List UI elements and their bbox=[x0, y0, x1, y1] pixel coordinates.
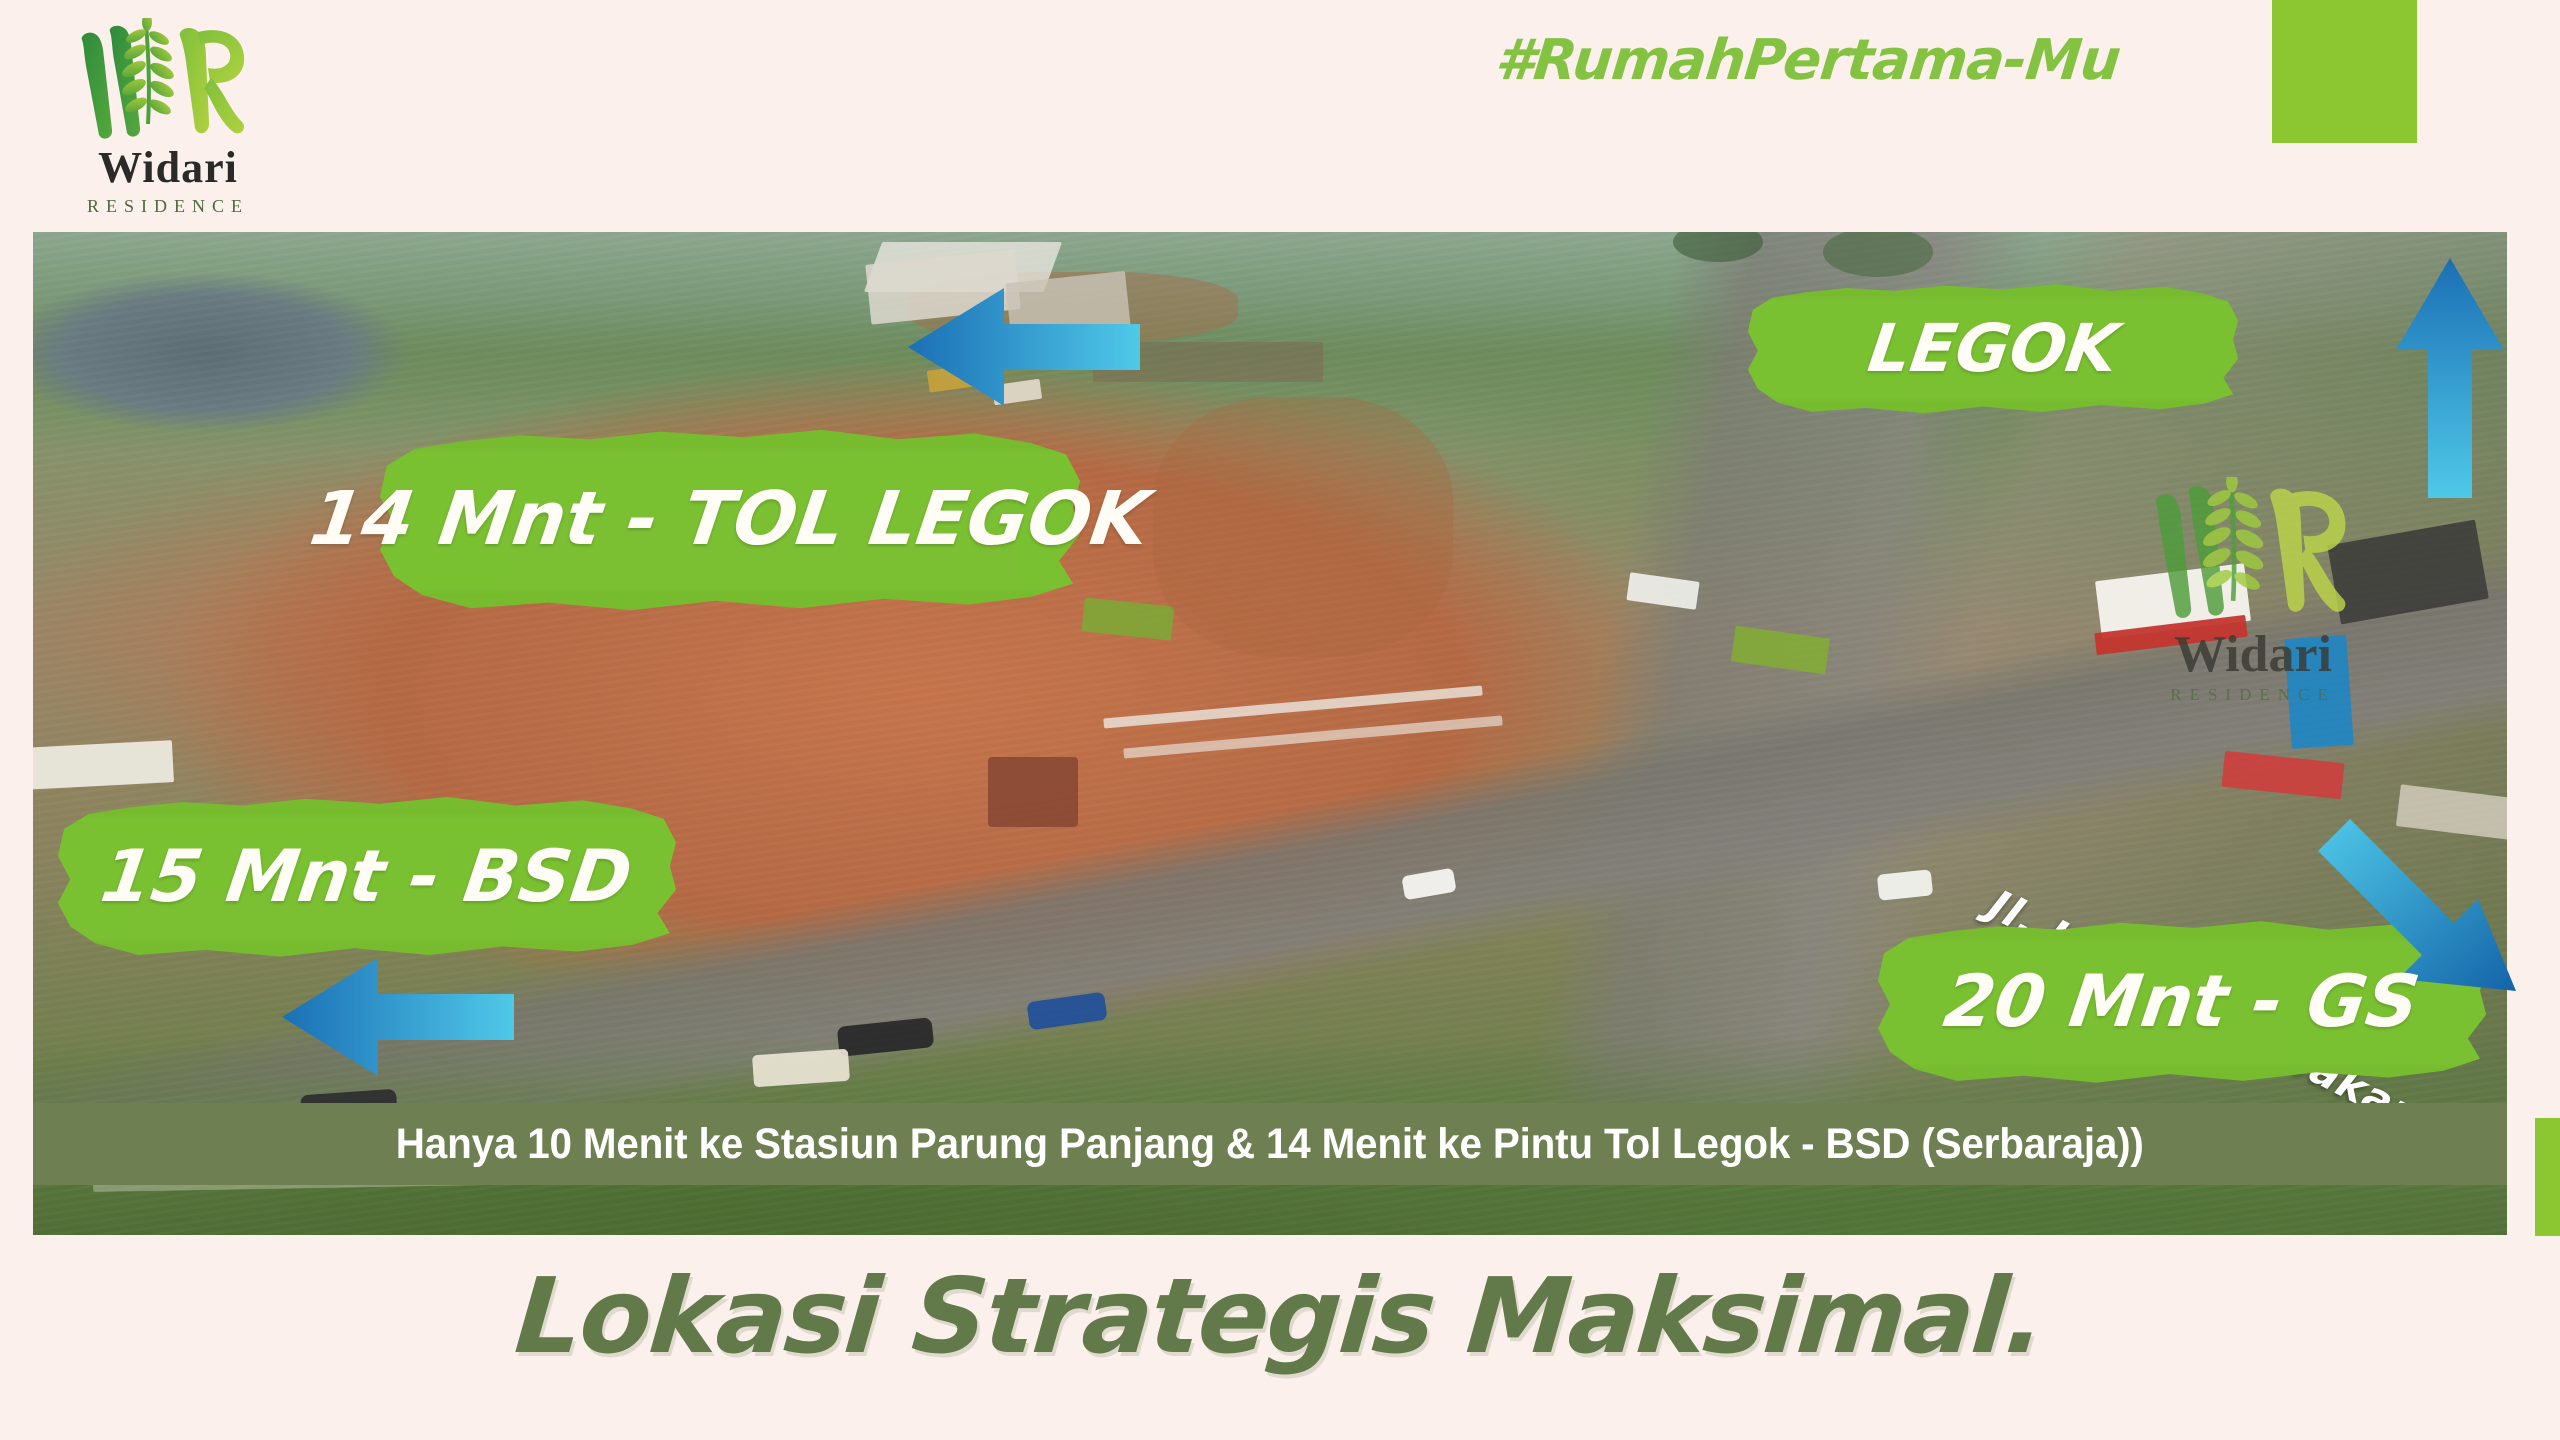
badge-label: LEGOK bbox=[1863, 310, 2122, 387]
arrow-left-icon bbox=[282, 958, 514, 1076]
badge-tol-legok: 14 Mnt - TOL LEGOK bbox=[380, 424, 1080, 614]
badge-label: 15 Mnt - BSD bbox=[97, 834, 638, 918]
brand-logo[interactable]: Widari RESIDENCE bbox=[48, 18, 288, 218]
watermark-brand-subtitle: RESIDENCE bbox=[2108, 685, 2398, 705]
header: Widari RESIDENCE #RumahPertama-Mu bbox=[0, 0, 2560, 232]
badge-label: 14 Mnt - TOL LEGOK bbox=[305, 476, 1155, 562]
photo-detail bbox=[1153, 397, 1453, 657]
photo-vehicle bbox=[752, 1049, 850, 1088]
caption-text: Hanya 10 Menit ke Stasiun Parung Panjang… bbox=[396, 1120, 2144, 1169]
arrow-left-icon bbox=[908, 288, 1140, 406]
wheat-leaf-wr-monogram-icon bbox=[2142, 477, 2364, 629]
watermark-brand-name: Widari bbox=[2108, 629, 2398, 681]
tagline: Lokasi Strategis Maksimal. bbox=[0, 1255, 2560, 1377]
badge-legok: LEGOK bbox=[1748, 280, 2238, 416]
brand-subtitle: RESIDENCE bbox=[48, 196, 288, 217]
header-accent-block bbox=[2272, 0, 2417, 143]
arrow-up-icon bbox=[2396, 258, 2504, 498]
right-accent-bar bbox=[2535, 1118, 2560, 1236]
badge-label: 20 Mnt - GS bbox=[1939, 959, 2424, 1043]
wheat-leaf-wr-monogram-icon bbox=[70, 18, 260, 148]
caption-bar: Hanya 10 Menit ke Stasiun Parung Panjang… bbox=[33, 1103, 2507, 1185]
photo-watermark-logo: Widari RESIDENCE bbox=[2108, 477, 2398, 707]
photo-building bbox=[988, 757, 1078, 827]
photo-vehicle bbox=[33, 740, 174, 790]
hashtag-text: #RumahPertama-Mu bbox=[1493, 28, 2123, 93]
badge-bsd: 15 Mnt - BSD bbox=[58, 792, 676, 960]
brand-name: Widari bbox=[48, 146, 288, 190]
